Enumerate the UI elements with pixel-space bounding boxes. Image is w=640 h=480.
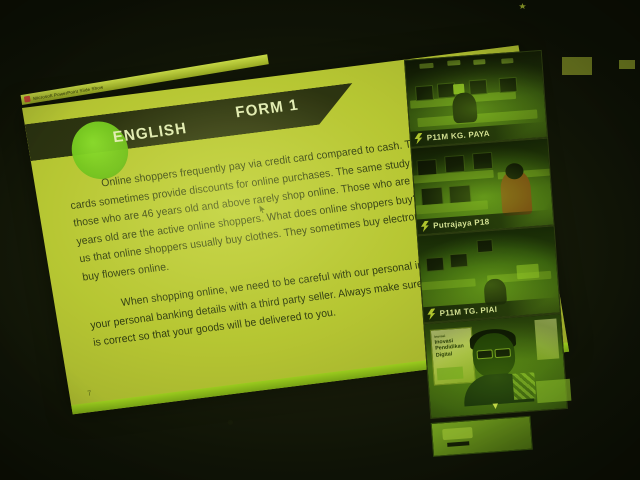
wall-reflection-patch bbox=[562, 57, 592, 75]
wall-reflection-speck bbox=[619, 60, 635, 69]
video-tile-presenter[interactable]: Inovasi Inovasi Pendidikan Digital ▾ bbox=[423, 313, 568, 419]
lower-panel-reflection bbox=[431, 416, 533, 457]
speaker-badge-icon bbox=[420, 221, 430, 233]
lower-panel-bar bbox=[447, 441, 469, 447]
lower-panel-edge bbox=[536, 379, 572, 403]
video-tile-name: P11M TG. PIAI bbox=[439, 305, 497, 318]
video-tile-name: Putrajaya P18 bbox=[433, 217, 490, 230]
video-tile[interactable]: Putrajaya P18 bbox=[410, 138, 554, 236]
video-tile-name: P11M KG. PAYA bbox=[426, 129, 490, 143]
video-tile[interactable]: P11M KG. PAYA bbox=[404, 50, 548, 148]
speaker-badge-icon bbox=[426, 308, 436, 320]
chevron-down-icon[interactable]: ▾ bbox=[492, 402, 498, 411]
speaker-badge-icon bbox=[413, 133, 423, 145]
slide-number: 7 bbox=[87, 390, 92, 398]
video-conference-strip: P11M KG. PAYA Putrajaya P18 bbox=[404, 50, 575, 459]
lower-panel-blob bbox=[442, 427, 473, 440]
video-tile[interactable]: P11M TG. PIAI bbox=[417, 225, 561, 323]
powerpoint-icon bbox=[24, 96, 31, 103]
